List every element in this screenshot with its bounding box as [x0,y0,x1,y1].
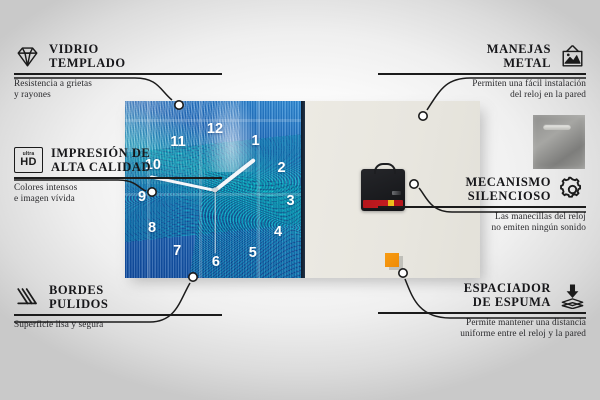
clock-numeral: 7 [173,244,181,259]
clock-numeral: 1 [251,134,259,149]
feature-impresion-alta-calidad: ultra HD IMPRESIÓN DE ALTA CALIDAD Color… [14,146,222,205]
feature-title-line1: BORDES [49,283,104,297]
feature-description: Superficie lisa y segura [14,320,222,331]
feature-title-line1: MANEJAS [487,42,551,56]
feature-description-line2: del reloj en la pared [510,90,586,100]
feature-description-line1: Las manecillas del reloj [495,212,586,222]
picture-hanger-icon [559,43,586,70]
clock-numeral: 5 [249,246,257,261]
feature-title-line2: ALTA CALIDAD [51,160,151,174]
feature-title-line2: PULIDOS [49,297,108,311]
feature-title-line2: SILENCIOSO [468,189,551,203]
feature-title: VIDRIO TEMPLADO [49,42,126,70]
feature-title: MECANISMO SILENCIOSO [465,175,551,203]
feature-manejas-metal: MANEJAS METAL Permiten una fácil instala… [378,42,586,101]
feature-divider [378,73,586,75]
feature-title-line1: MECANISMO [465,175,551,189]
mechanism-loop [374,163,396,174]
feature-description: Resistencia a grietas y rayones [14,79,222,102]
feature-title-line1: VIDRIO [49,42,99,56]
feature-title-line2: DE ESPUMA [473,295,551,309]
feature-description: Las manecillas del reloj no emiten ningú… [378,212,586,235]
ultra-hd-icon: ultra HD [14,147,43,173]
feature-description-line2: uniforme entre el reloj y la pared [460,329,586,339]
feature-divider [14,177,222,179]
feature-espaciador-espuma: ESPACIADOR DE ESPUMA Permite mantener un… [378,281,586,340]
clock-numeral: 4 [274,225,282,240]
feature-description-line2: y rayones [14,90,51,100]
clock-numeral: 8 [148,221,156,236]
gear-icon [559,176,586,203]
feature-description: Permiten una fácil instalación del reloj… [378,79,586,102]
clock-numeral: 3 [287,194,295,209]
infographic-canvas: 12 1 2 3 4 5 6 7 8 9 10 11 [0,0,600,400]
feature-title-line2: TEMPLADO [49,56,126,70]
feature-description-line1: Permite mantener una distancia [466,318,586,328]
feature-divider [14,73,222,75]
feature-title-line1: IMPRESIÓN DE [51,146,150,160]
clock-numeral: 12 [207,122,223,137]
feature-divider [14,314,222,316]
feature-description-line1: Permiten una fácil instalación [472,79,586,89]
feature-description: Permite mantener una distancia uniforme … [378,318,586,341]
feature-description-line1: Superficie lisa y segura [14,320,103,330]
feature-description: Colores intensos e imagen vívida [14,183,222,206]
diamond-icon [14,43,41,70]
foam-spacer [385,253,399,267]
feature-title: BORDES PULIDOS [49,283,108,311]
feature-title: IMPRESIÓN DE ALTA CALIDAD [51,146,151,174]
feature-description-line1: Resistencia a grietas [14,79,92,89]
feature-mecanismo-silencioso: MECANISMO SILENCIOSO Las manecillas del … [378,175,586,234]
feature-vidrio-templado: VIDRIO TEMPLADO Resistencia a grietas y … [14,42,222,101]
polished-edges-icon [14,284,41,311]
feature-title-line2: METAL [503,56,551,70]
hanger-slot [543,124,571,130]
feature-bordes-pulidos: BORDES PULIDOS Superficie lisa y segura [14,283,222,331]
feature-description-line2: e imagen vívida [14,194,75,204]
feature-divider [378,206,586,208]
foam-spacer-icon [559,282,586,309]
feature-title: ESPACIADOR DE ESPUMA [464,281,551,309]
feature-description-line1: Colores intensos [14,183,77,193]
clock-numeral: 2 [278,161,286,176]
feature-divider [378,312,586,314]
clock-numeral: 6 [212,255,220,270]
metal-hanger-plate [533,115,585,169]
feature-description-line2: no emiten ningún sonido [492,223,587,233]
feature-title: MANEJAS METAL [487,42,551,70]
ultra-hd-icon-large-text: HD [20,157,37,168]
feature-title-line1: ESPACIADOR [464,281,551,295]
